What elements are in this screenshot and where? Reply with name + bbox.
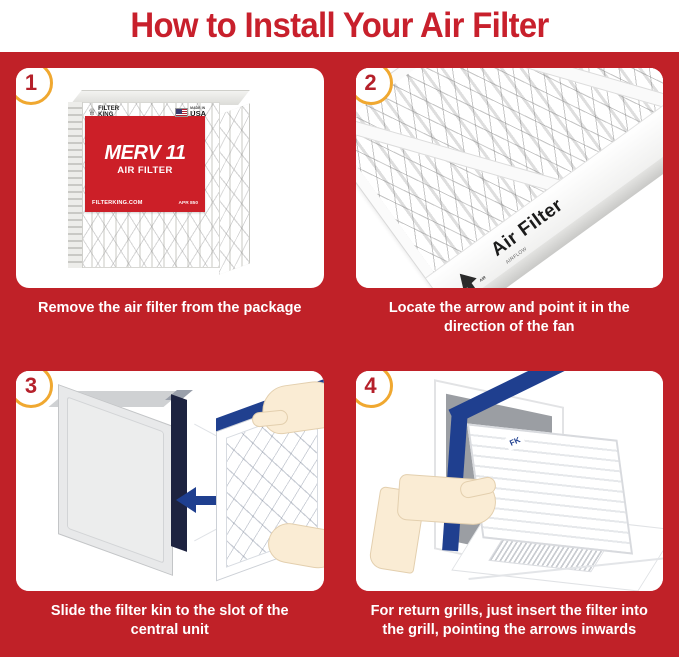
filter-brand-row: ♕ FILTER KING MADE IN USA: [88, 104, 206, 120]
brand-line-1: FILTER: [98, 106, 119, 112]
step-1-image: ♕ FILTER KING MADE IN USA: [16, 68, 324, 288]
title-bar: How to Install Your Air Filter: [0, 0, 679, 52]
step-4-caption: For return grills, just insert the filte…: [356, 602, 664, 640]
filter-side-face: [219, 103, 250, 274]
filter-red-label: MERV 11 AIR FILTER FILTERKING.COM APR 85…: [85, 116, 205, 212]
step-3-caption: Slide the filter kin to the slot of the …: [16, 602, 324, 640]
filter-king-logo: ♕ FILTER KING: [88, 106, 119, 118]
brand-line-2: KING: [98, 112, 113, 118]
step-2: 2 AIR Air Filter: [340, 52, 679, 355]
step-4-image: FK: [356, 371, 664, 591]
step-2-image: AIR Air Filter AIRFLOW: [356, 68, 664, 288]
step-4-card: 4 FK: [356, 371, 664, 591]
country-label: USA: [190, 109, 206, 118]
made-in-usa-badge: MADE IN USA: [175, 107, 206, 118]
filter-frame: AIR Air Filter AIRFLOW: [356, 68, 664, 288]
usa-text: MADE IN USA: [190, 107, 206, 118]
step-1-caption: Remove the air filter from the package: [16, 299, 324, 318]
step-3-card: 3: [16, 371, 324, 591]
step-3: 3: [0, 355, 340, 657]
us-flag-icon: [175, 108, 188, 117]
filter-side-mesh: [219, 104, 249, 275]
insert-direction-arrowhead-icon: [176, 487, 196, 513]
step-4: 4 FK For return grills, just insert the …: [340, 355, 679, 657]
brand-text: FILTER KING: [98, 106, 119, 118]
unit-filter-slot: [171, 394, 187, 552]
product-type: AIR FILTER: [85, 165, 205, 176]
crown-icon: ♕: [88, 108, 96, 117]
step-2-caption: Locate the arrow and point it in the dir…: [356, 299, 664, 337]
website-url: FILTERKING.COM: [92, 200, 143, 206]
unit-front-face: [58, 384, 173, 576]
step-3-image: [16, 371, 324, 591]
angled-filter-frame: AIR Air Filter AIRFLOW: [356, 68, 664, 288]
arrow-label: AIR: [478, 275, 487, 283]
merv-rating: MERV 11: [85, 142, 205, 165]
frame-brace-2: [456, 68, 663, 131]
unit-panel-inset: [67, 396, 164, 563]
apr-rating: APR 850: [179, 201, 198, 206]
central-unit-illustration: [58, 391, 193, 561]
step-1: 1 ♕ FILTER: [0, 52, 340, 355]
steps-grid: 1 ♕ FILTER: [0, 52, 679, 657]
air-filter-package-illustration: ♕ FILTER KING MADE IN USA: [68, 90, 248, 270]
hand-upper: [259, 377, 323, 436]
step-1-card: 1 ♕ FILTER: [16, 68, 324, 288]
page-title: How to Install Your Air Filter: [130, 8, 548, 43]
filter-left-ribs: [68, 102, 83, 268]
step-2-card: 2 AIR Air Filter: [356, 68, 664, 288]
